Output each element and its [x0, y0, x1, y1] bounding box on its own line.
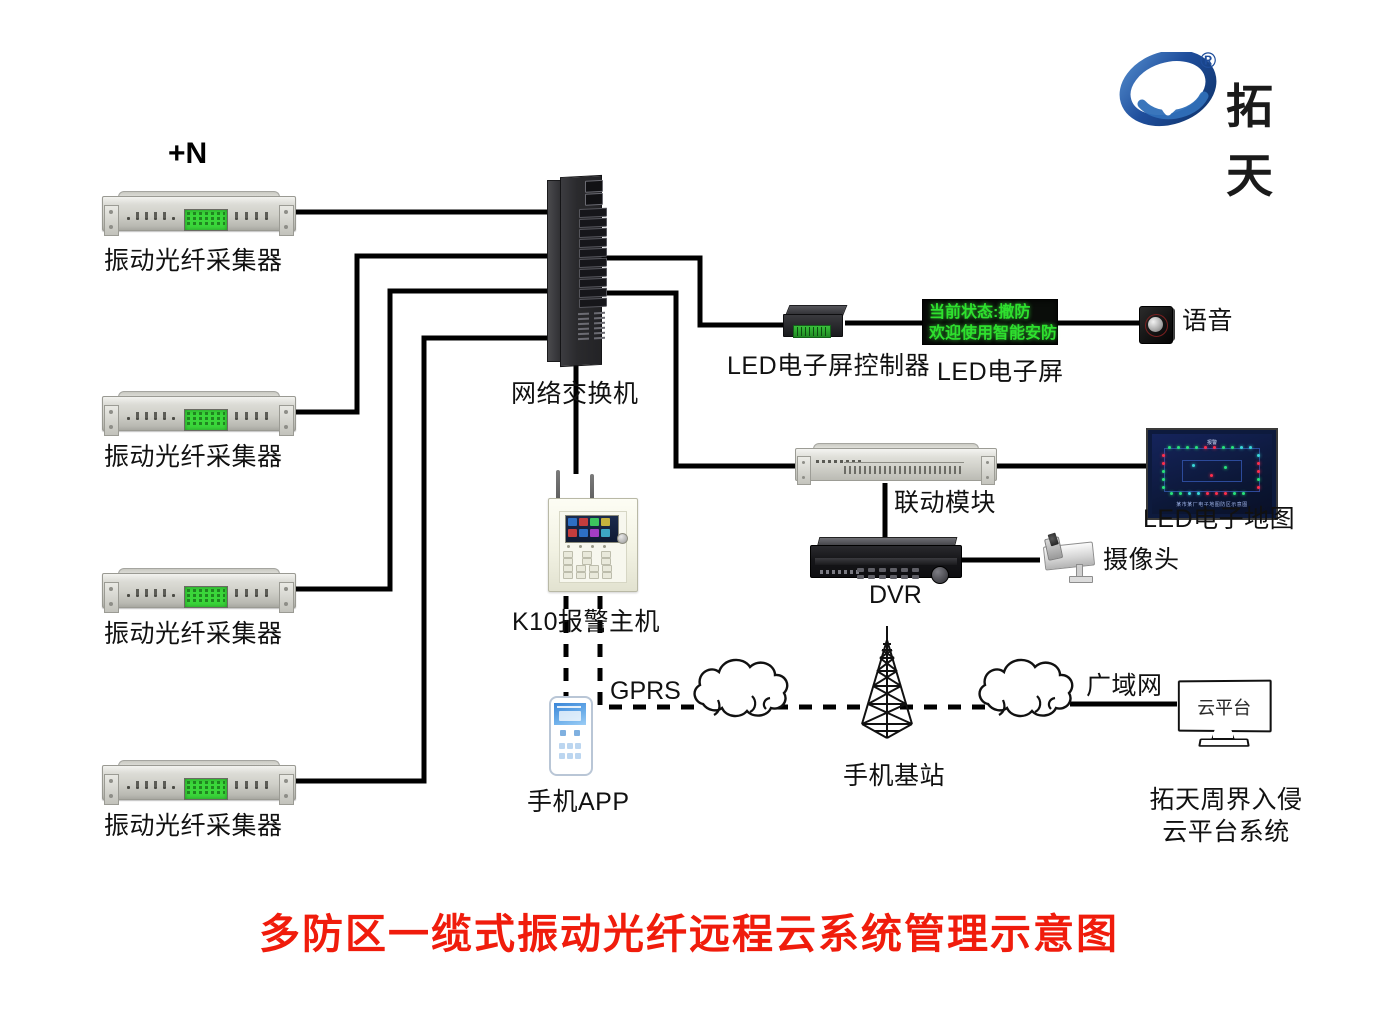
linkage-relay-indicators: [844, 466, 964, 474]
collector-led-group-right: [235, 217, 271, 221]
led-controller-label: LED电子屏控制器: [727, 352, 930, 382]
diagram-canvas: ® 拓天 +N 振动光纤采集器: [0, 0, 1378, 1034]
collector-led-group-left: [127, 417, 179, 421]
phone-icon-6[interactable]: [559, 753, 565, 759]
cloud-platform-screen-text: 云平台: [1180, 694, 1270, 720]
led-screen-line-1: 当前状态:撤防: [929, 302, 1057, 323]
rack-ear-right: [279, 774, 294, 805]
camera-wall-base: [1069, 576, 1093, 583]
speaker-body: [1139, 306, 1173, 344]
phone-body: [549, 696, 593, 776]
collector-led-group-left: [127, 594, 179, 598]
dvr-logo-text: [820, 570, 860, 574]
collector-lcd-icon: [184, 409, 228, 431]
collector-lcd-icon: [184, 778, 228, 800]
cloud-platform-monitor[interactable]: 云平台: [1177, 680, 1269, 748]
phone-icon-1[interactable]: [560, 730, 566, 736]
vibration-fiber-collector-4[interactable]: [102, 759, 294, 804]
rack-body: [102, 765, 296, 800]
linkage-divider: [844, 462, 964, 463]
cloud-shape-2: [980, 660, 1073, 716]
rack-ear-right: [279, 205, 294, 236]
voice-speaker-icon: [1139, 306, 1177, 344]
led-map-screen-title: 报警: [1152, 439, 1272, 446]
vibration-fiber-collector-1[interactable]: [102, 190, 294, 235]
controller-terminal-block-icon: [793, 325, 831, 338]
phone-app-label: 手机APP: [527, 788, 630, 818]
camera-body: [1043, 541, 1095, 570]
k10-alarm-host[interactable]: [540, 470, 636, 590]
k10-lcd-screen: [565, 515, 619, 543]
brand-logo: ® 拓天: [1118, 52, 1308, 132]
diagram-title: 多防区一缆式振动光纤远程云系统管理示意图: [0, 900, 1378, 960]
k10-label: K10报警主机: [512, 608, 660, 638]
phone-icon-8[interactable]: [575, 753, 581, 759]
linkage-body: [795, 448, 997, 481]
linkage-module-label: 联动模块: [894, 489, 996, 519]
phone-app-card: [559, 711, 581, 721]
led-map-label: LED电子地图: [1143, 505, 1295, 535]
rack-ear-right: [279, 582, 294, 613]
dvr-front-strip: [815, 558, 957, 565]
switch-front-panel: [560, 175, 602, 367]
rack-ear-left: [104, 205, 119, 236]
phone-screen: [554, 703, 586, 767]
cctv-camera-icon: [1036, 540, 1110, 586]
collector-led-group-left: [127, 786, 179, 790]
linkage-ear-left: [797, 456, 811, 485]
collector-led-group-right: [235, 786, 271, 790]
led-screen-controller[interactable]: [783, 305, 845, 341]
led-screen-line-2: 欢迎使用智能安防: [929, 323, 1057, 344]
collector-2-label: 振动光纤采集器: [104, 443, 283, 473]
collector-3-label: 振动光纤采集器: [104, 620, 283, 650]
phone-icon-2[interactable]: [574, 730, 580, 736]
monitor-base: [1198, 739, 1250, 747]
rack-ear-left: [104, 405, 119, 436]
k10-status-leds: [567, 545, 613, 548]
dvr-body: [810, 545, 962, 578]
phone-icon-4[interactable]: [567, 743, 573, 749]
led-display-screen: 当前状态:撤防 欢迎使用智能安防: [922, 299, 1058, 345]
led-map-surface: 报警: [1152, 434, 1272, 514]
switch-rj45-ports: [579, 208, 609, 308]
dvr-recorder[interactable]: [810, 537, 960, 579]
collector-lcd-icon: [184, 209, 228, 231]
vibration-fiber-collector-2[interactable]: [102, 390, 294, 435]
camera-lens-housing: [1044, 536, 1063, 561]
dvr-label: DVR: [869, 581, 922, 611]
rack-ear-right: [279, 405, 294, 436]
k10-enclosure: [548, 498, 638, 592]
k10-keypad[interactable]: [563, 551, 619, 585]
collector-led-group-right: [235, 594, 271, 598]
monitor-screen: 云平台: [1178, 680, 1272, 733]
vibration-fiber-collector-3[interactable]: [102, 567, 294, 612]
base-station-label: 手机基站: [843, 762, 945, 792]
registered-mark-icon: ®: [1200, 48, 1216, 74]
camera-label: 摄像头: [1103, 546, 1180, 576]
phone-icon-5[interactable]: [575, 743, 581, 749]
linkage-ear-right: [981, 456, 995, 485]
cloud-platform-label-line-1: 拓天周界入侵: [1146, 786, 1306, 816]
switch-sfp-ports: [585, 180, 607, 209]
cell-tower-icon: [852, 626, 922, 746]
rack-body: [102, 396, 296, 431]
wan-label: 广域网: [1086, 672, 1163, 702]
brand-name: 拓天: [1226, 68, 1308, 206]
k10-tamper-knob: [617, 533, 628, 544]
mobile-phone-app[interactable]: [549, 696, 589, 772]
collector-1-label: 振动光纤采集器: [104, 247, 283, 277]
collector-lcd-icon: [184, 586, 228, 608]
gprs-label: GPRS: [610, 677, 681, 707]
collector-led-group-left: [127, 217, 179, 221]
collector-led-group-right: [235, 417, 271, 421]
dvr-buttons: [857, 568, 927, 580]
phone-icon-3[interactable]: [559, 743, 565, 749]
network-switch[interactable]: [547, 180, 601, 360]
rack-ear-left: [104, 774, 119, 805]
rack-ear-left: [104, 582, 119, 613]
plus-n-label: +N: [168, 137, 207, 171]
switch-label: 网络交换机: [511, 380, 639, 410]
collector-4-label: 振动光纤采集器: [104, 812, 283, 842]
switch-vents: [578, 312, 608, 350]
voice-label: 语音: [1182, 307, 1233, 337]
linkage-module[interactable]: [795, 443, 995, 483]
speaker-cone: [1148, 317, 1163, 332]
cloud-platform-label-line-2: 云平台系统: [1146, 818, 1306, 848]
phone-icon-7[interactable]: [567, 753, 573, 759]
rack-body: [102, 573, 296, 608]
rack-body: [102, 196, 296, 231]
phone-app-header: [554, 703, 586, 725]
led-screen-label: LED电子屏: [937, 358, 1064, 388]
cloud-shape-1: [695, 660, 788, 716]
dvr-jog-dial[interactable]: [931, 566, 949, 584]
